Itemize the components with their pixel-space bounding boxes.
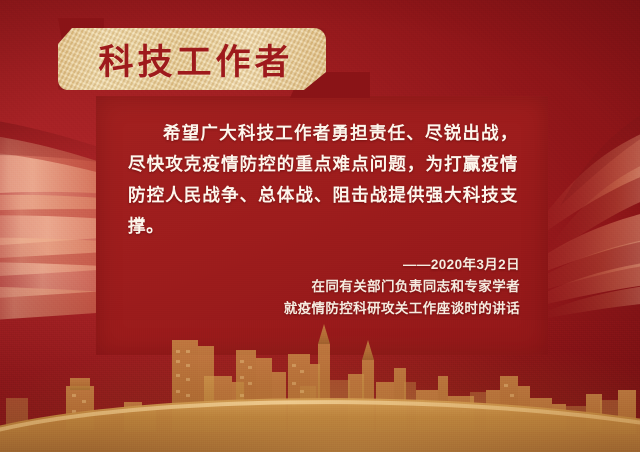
title-banner: 科技工作者 [58,28,358,90]
content-panel: 希望广大科技工作者勇担责任、尽锐出战，尽快攻克疫情防控的重点难点问题，为打赢疫情… [96,96,548,355]
quote-text: 希望广大科技工作者勇担责任、尽锐出战，尽快攻克疫情防控的重点难点问题，为打赢疫情… [128,118,518,242]
banner-title-text: 科技工作者 [58,28,326,90]
attribution-date: ——2020年3月2日 [160,254,520,276]
attribution-context-line-1: 在同有关部门负责同志和专家学者 [160,276,520,298]
attribution-block: ——2020年3月2日 在同有关部门负责同志和专家学者 就疫情防控科研攻关工作座… [160,254,520,320]
attribution-context-line-2: 就疫情防控科研攻关工作座谈时的讲话 [160,298,520,320]
poster-canvas: 希望广大科技工作者勇担责任、尽锐出战，尽快攻克疫情防控的重点难点问题，为打赢疫情… [0,0,640,452]
city-skyline-decor [0,320,640,452]
